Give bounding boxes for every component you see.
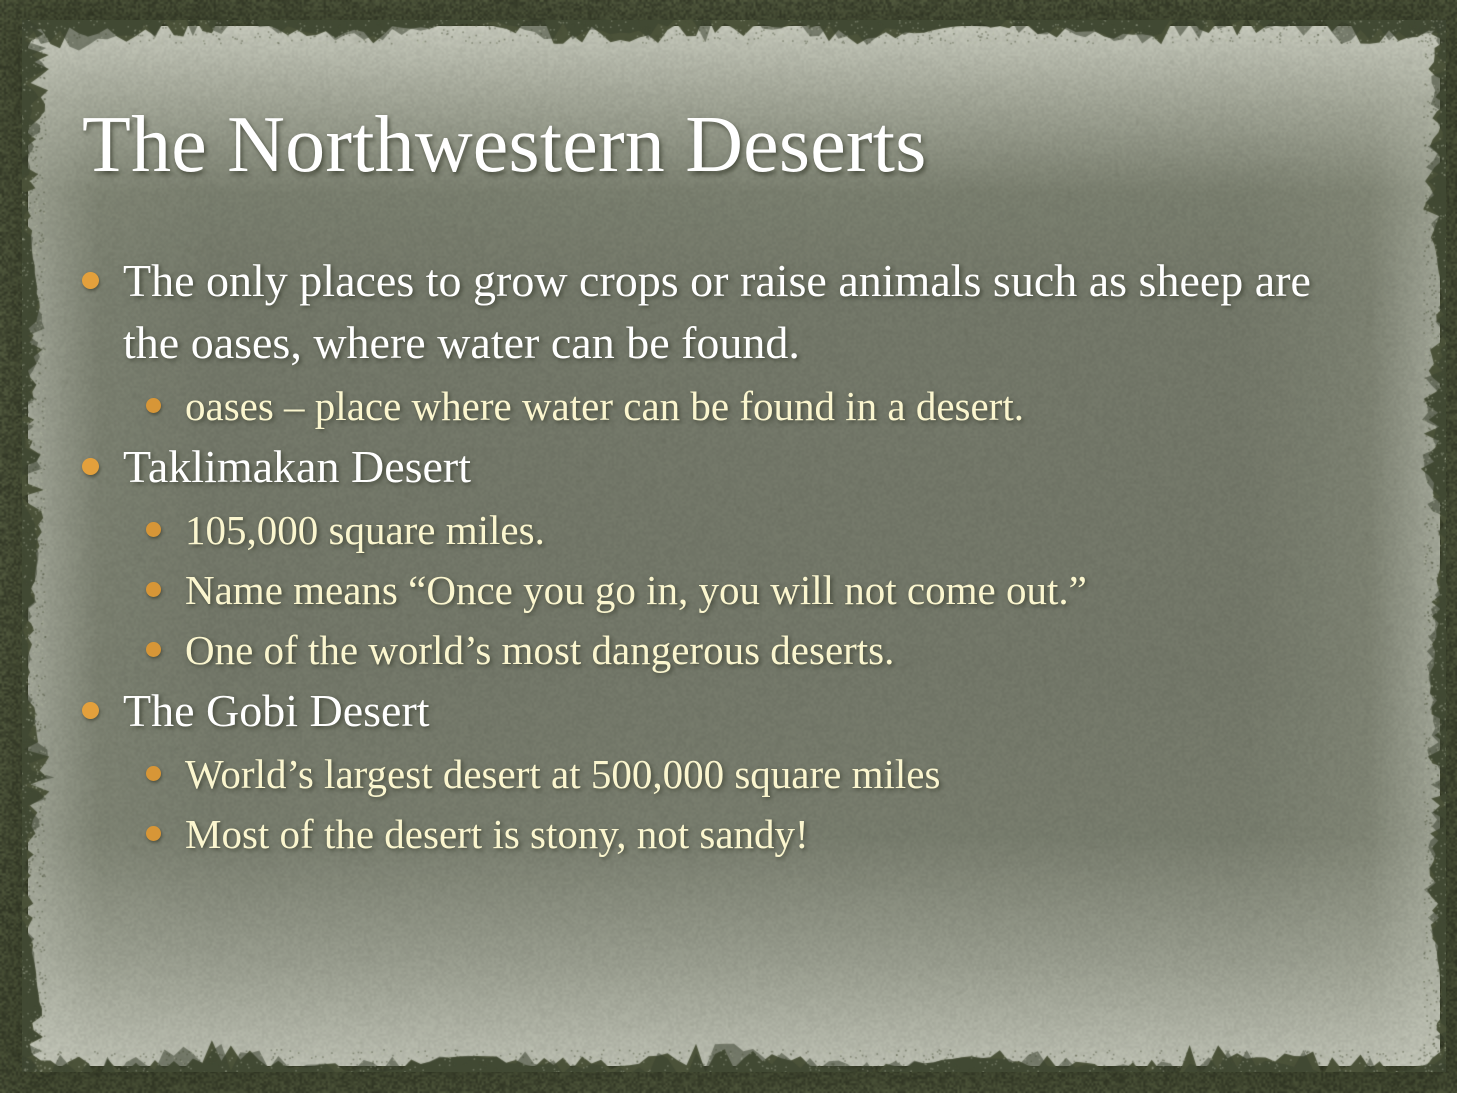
- bullet-item-level1: The only places to grow crops or raise a…: [0, 250, 1457, 374]
- slide-content: The Northwestern Deserts The only places…: [0, 0, 1457, 1093]
- bullet-dot-icon: [146, 582, 161, 597]
- bullet-item-level1: The Gobi Desert: [0, 680, 1457, 742]
- bullet-text: The Gobi Desert: [123, 680, 430, 742]
- bullet-text: oases – place where water can be found i…: [185, 376, 1024, 436]
- bullet-dot-icon: [146, 522, 161, 537]
- bullet-item-level2: World’s largest desert at 500,000 square…: [0, 744, 1457, 804]
- bullet-dot-icon: [82, 702, 99, 719]
- bullet-item-level1: Taklimakan Desert: [0, 436, 1457, 498]
- slide-title: The Northwestern Deserts: [82, 97, 927, 193]
- bullet-text: Name means “Once you go in, you will not…: [185, 560, 1087, 620]
- bullet-text: One of the world’s most dangerous desert…: [185, 620, 894, 680]
- bullet-item-level2: One of the world’s most dangerous desert…: [0, 620, 1457, 680]
- bullet-item-level2: Name means “Once you go in, you will not…: [0, 560, 1457, 620]
- bullet-list: The only places to grow crops or raise a…: [0, 250, 1457, 864]
- bullet-text: Taklimakan Desert: [123, 436, 471, 498]
- bullet-text: The only places to grow crops or raise a…: [123, 250, 1338, 374]
- bullet-item-level2: Most of the desert is stony, not sandy!: [0, 804, 1457, 864]
- bullet-text: 105,000 square miles.: [185, 500, 545, 560]
- bullet-dot-icon: [82, 272, 99, 289]
- bullet-text: World’s largest desert at 500,000 square…: [185, 744, 940, 804]
- bullet-text: Most of the desert is stony, not sandy!: [185, 804, 809, 864]
- bullet-dot-icon: [146, 398, 161, 413]
- bullet-dot-icon: [146, 826, 161, 841]
- bullet-dot-icon: [146, 766, 161, 781]
- bullet-item-level2: 105,000 square miles.: [0, 500, 1457, 560]
- presentation-slide: The Northwestern Deserts The only places…: [0, 0, 1457, 1093]
- bullet-dot-icon: [82, 458, 99, 475]
- bullet-item-level2: oases – place where water can be found i…: [0, 376, 1457, 436]
- bullet-dot-icon: [146, 642, 161, 657]
